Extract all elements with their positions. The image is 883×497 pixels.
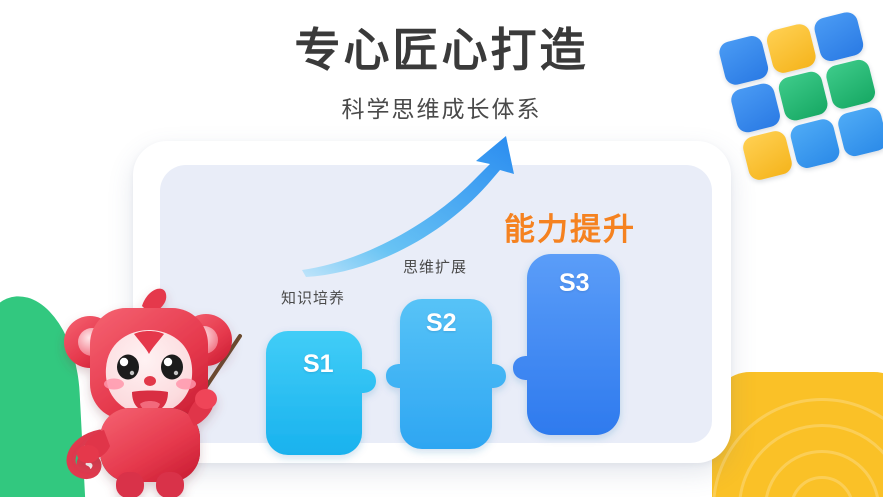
stage-name-s3: S3 (559, 269, 590, 298)
stage-name-s2: S2 (426, 309, 457, 338)
page-title: 专心匠心打造 (0, 24, 883, 77)
stage-label-s2: 思维扩展 (403, 256, 467, 277)
mascot-eye-left (117, 355, 139, 380)
mascot-nose (144, 376, 156, 386)
mascot-eye-glint-left (130, 371, 134, 375)
tile-r3c1 (741, 129, 794, 182)
promo-banner: 专心匠心打造 科学思维成长体系 (0, 0, 883, 497)
ring-icon (712, 398, 883, 497)
mascot-eye-glint-right (174, 371, 178, 375)
mascot-leg-left (116, 472, 144, 497)
stage-label-s1: 知识培养 (281, 287, 345, 308)
yellow-block-decoration (712, 372, 883, 497)
mascot-hand-left (77, 445, 99, 463)
stage-name-s1: S1 (303, 350, 334, 379)
mascot-cheek-left (104, 379, 124, 390)
mascot-eye-right (161, 355, 183, 380)
mascot-eye-highlight-right (164, 358, 172, 366)
monkey-mascot (54, 284, 244, 497)
tile-r3c2 (788, 117, 841, 170)
mascot-cheek-right (176, 379, 196, 390)
callout-text: 能力提升 (504, 204, 636, 249)
mascot-eye-highlight-left (120, 358, 128, 366)
page-subtitle: 科学思维成长体系 (0, 90, 883, 124)
mascot-leg-right (156, 472, 184, 497)
mascot-hand-right (195, 389, 217, 409)
